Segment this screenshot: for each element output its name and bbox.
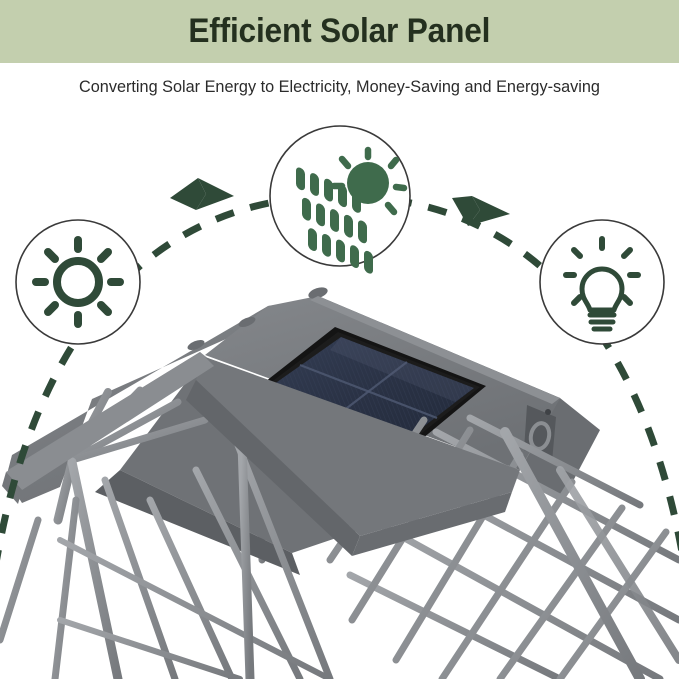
infographic-canvas: Efficient Solar Panel Converting Solar E… <box>0 0 679 679</box>
page-title: Efficient Solar Panel <box>189 12 491 51</box>
flow-step-bulb[interactable] <box>540 220 664 344</box>
flow-step-sun[interactable] <box>16 220 140 344</box>
flow-step-panel[interactable] <box>270 126 410 275</box>
header-band: Efficient Solar Panel <box>0 0 679 63</box>
arrow-left-to-middle <box>170 178 234 210</box>
flow-diagram <box>0 0 679 679</box>
arrow-middle-to-right <box>452 196 510 226</box>
page-subtitle: Converting Solar Energy to Electricity, … <box>5 78 674 97</box>
